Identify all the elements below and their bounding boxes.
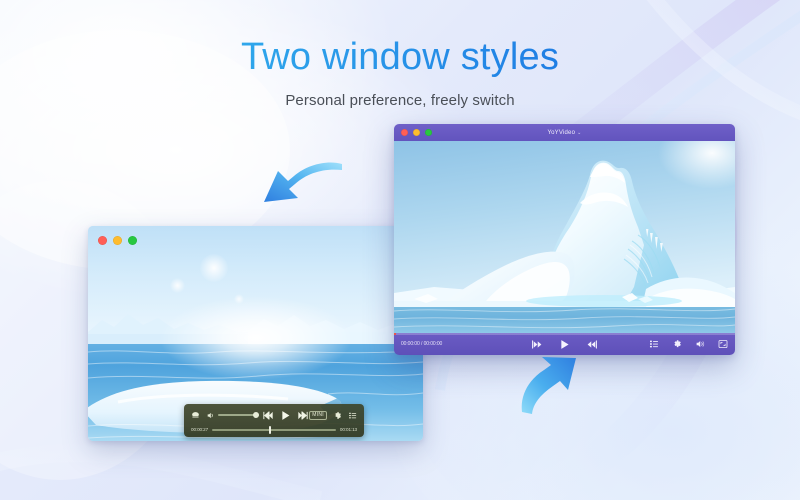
zoom-button[interactable] bbox=[128, 236, 137, 245]
video-scene-iceberg bbox=[394, 141, 735, 333]
previous-icon[interactable] bbox=[262, 411, 273, 420]
volume-slider[interactable] bbox=[218, 414, 259, 416]
progress-bar-fill bbox=[394, 333, 396, 335]
chevron-down-icon[interactable]: ⌄ bbox=[577, 130, 581, 136]
gear-icon[interactable] bbox=[333, 411, 342, 420]
play-icon[interactable] bbox=[559, 339, 570, 350]
playlist-icon[interactable] bbox=[348, 411, 357, 420]
fullscreen-icon[interactable] bbox=[718, 339, 728, 349]
window-title-text: YoYVideo bbox=[547, 130, 575, 136]
progress-bar[interactable] bbox=[394, 333, 735, 335]
window-title-bar[interactable]: YoYVideo⌄ bbox=[394, 124, 735, 141]
time-display: 00:00:00 / 00:00:00 bbox=[401, 341, 442, 347]
previous-icon[interactable] bbox=[531, 340, 542, 349]
zoom-button[interactable] bbox=[425, 129, 432, 136]
traffic-lights-borderless[interactable] bbox=[98, 236, 137, 245]
page-title: Two window styles bbox=[0, 36, 800, 79]
next-icon[interactable] bbox=[298, 411, 309, 420]
volume-slider-knob[interactable] bbox=[253, 412, 259, 418]
airplay-icon[interactable] bbox=[191, 411, 200, 420]
play-icon[interactable] bbox=[280, 410, 291, 421]
gear-icon[interactable] bbox=[672, 339, 682, 349]
volume-icon[interactable] bbox=[206, 411, 215, 420]
current-time-label: 00:00:27 bbox=[191, 427, 208, 432]
player-window-borderless[interactable]: MINI 00:00:27 00:01:13 bbox=[88, 226, 423, 441]
close-button[interactable] bbox=[401, 129, 408, 136]
mini-mode-button[interactable]: MINI bbox=[309, 411, 327, 420]
floating-control-bar[interactable]: MINI 00:00:27 00:01:13 bbox=[184, 404, 364, 437]
player-control-bar[interactable]: 00:00:00 / 00:00:00 bbox=[394, 333, 735, 355]
time-separator: / bbox=[421, 341, 422, 347]
close-button[interactable] bbox=[98, 236, 107, 245]
window-title: YoYVideo⌄ bbox=[394, 130, 735, 136]
total-time-label: 00:01:13 bbox=[340, 427, 357, 432]
page-subtitle: Personal preference, freely switch bbox=[0, 92, 800, 109]
player-window-titled[interactable]: YoYVideo⌄ bbox=[394, 124, 735, 355]
current-time-label: 00:00:00 bbox=[401, 341, 420, 347]
secondary-controls bbox=[649, 339, 728, 349]
seek-slider-knob[interactable] bbox=[269, 426, 271, 434]
playlist-icon[interactable] bbox=[649, 339, 659, 349]
traffic-lights-titled[interactable] bbox=[401, 129, 432, 136]
total-time-label: 00:00:00 bbox=[424, 341, 443, 347]
volume-icon[interactable] bbox=[695, 339, 705, 349]
next-icon[interactable] bbox=[587, 340, 598, 349]
minimize-button[interactable] bbox=[113, 236, 122, 245]
minimize-button[interactable] bbox=[413, 129, 420, 136]
seek-slider[interactable] bbox=[212, 429, 336, 431]
